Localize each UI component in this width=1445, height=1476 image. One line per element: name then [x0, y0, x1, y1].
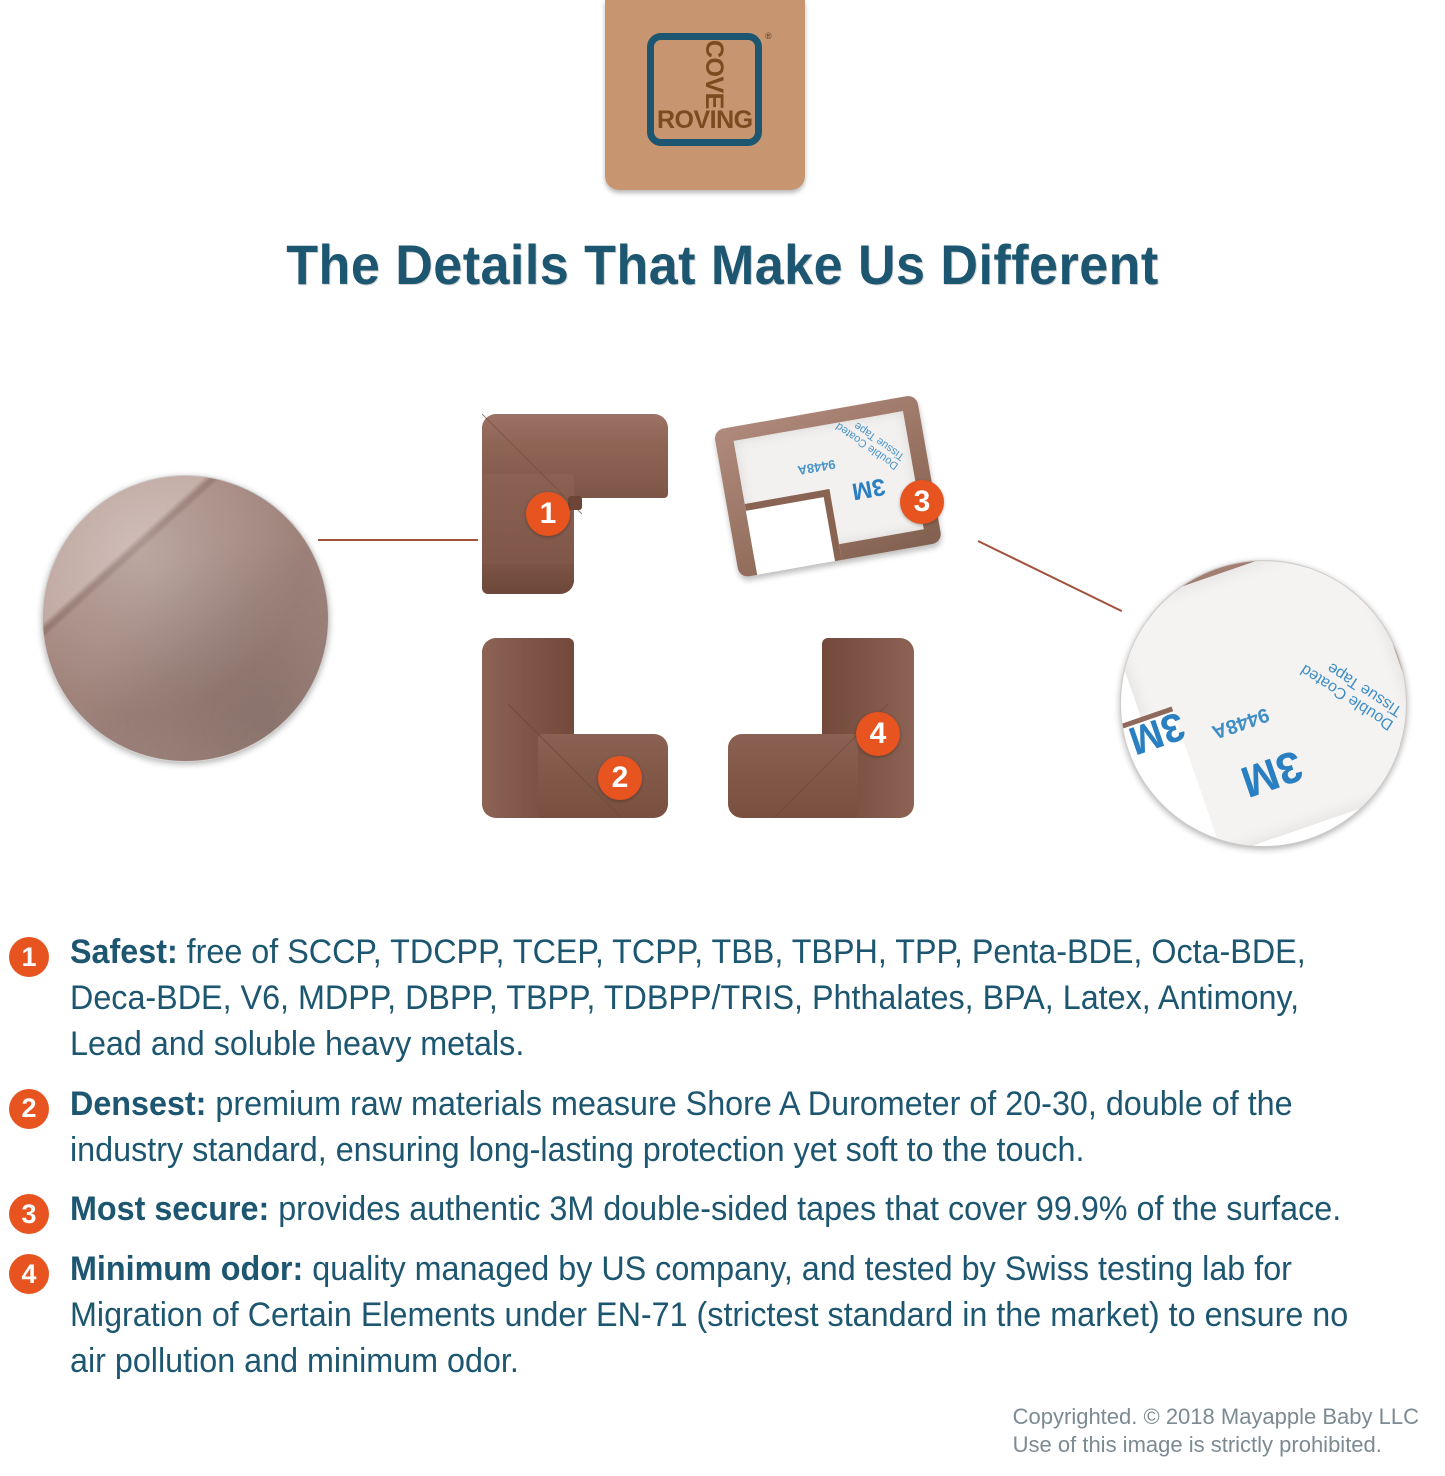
feature-lead-1: Safest: — [70, 933, 178, 971]
brand-logo-badge: ® ROVING COVE — [605, 0, 805, 190]
feature-body-3: provides authentic 3M double-sided tapes… — [269, 1190, 1341, 1228]
copyright-line-1: Copyrighted. © 2018 Mayapple Baby LLC — [1013, 1403, 1419, 1432]
feature-text-4: Minimum odor: quality managed by US comp… — [70, 1247, 1376, 1385]
guard-3-inner-notch — [745, 489, 842, 575]
feature-number-3: 3 — [9, 1194, 49, 1234]
tape-desc-a: Double Coated Tissue Tape — [832, 409, 907, 471]
badge-4: 4 — [856, 712, 900, 756]
corner-guard-1: 1 — [478, 414, 668, 594]
feature-item-3: 3 Most secure: provides authentic 3M dou… — [0, 1187, 1445, 1233]
badge-3: 3 — [900, 480, 944, 524]
feature-text-3: Most secure: provides authentic 3M doubl… — [70, 1187, 1376, 1233]
tape-logo-3m-b: 3M — [850, 473, 887, 502]
feature-body-2: premium raw materials measure Shore A Du… — [70, 1085, 1293, 1169]
logo-text-cove: COVE — [701, 40, 726, 109]
tape-detail-magnifier: 3M 3M 9448A Double Coated Tissue Tape — [1120, 560, 1407, 847]
feature-lead-2: Densest: — [70, 1085, 206, 1123]
feature-text-1: Safest: free of SCCP, TDCPP, TCEP, TCPP,… — [70, 930, 1376, 1068]
registered-trademark-icon: ® — [765, 32, 772, 41]
product-photo-area: 1 2 3M 3M 9448A Double Coated Tissue Tap… — [0, 380, 1445, 900]
guard-1-foot — [482, 564, 574, 594]
logo-square-outline — [647, 33, 762, 146]
feature-lead-3: Most secure: — [70, 1190, 269, 1228]
copyright-footer: Copyrighted. © 2018 Mayapple Baby LLC Us… — [1013, 1403, 1419, 1460]
feature-list: 1 Safest: free of SCCP, TDCPP, TCEP, TCP… — [0, 930, 1445, 1399]
page-title: The Details That Make Us Different — [51, 232, 1395, 297]
feature-number-2: 2 — [9, 1089, 49, 1129]
corner-guard-2: 2 — [478, 638, 668, 818]
feature-item-4: 4 Minimum odor: quality managed by US co… — [0, 1247, 1445, 1385]
connector-line-left — [318, 539, 478, 541]
feature-item-1: 1 Safest: free of SCCP, TDCPP, TCEP, TCP… — [0, 930, 1445, 1068]
badge-2: 2 — [598, 756, 642, 800]
logo-text-roving: ROVING — [657, 108, 753, 133]
feature-text-2: Densest: premium raw materials measure S… — [70, 1082, 1376, 1174]
feature-item-2: 2 Densest: premium raw materials measure… — [0, 1082, 1445, 1174]
corner-guard-3: 3M 3M 9448A Double Coated Tissue Tape 3 — [718, 402, 953, 582]
connector-line-right — [978, 540, 1123, 612]
copyright-line-2: Use of this image is strictly prohibited… — [1013, 1431, 1419, 1460]
corner-guard-4: 4 — [728, 638, 918, 818]
guard-1-inner-corner — [568, 496, 582, 510]
badge-1: 1 — [526, 492, 570, 536]
feature-body-1: free of SCCP, TDCPP, TCEP, TCPP, TBB, TB… — [70, 933, 1306, 1063]
tape-code-a: 9448A — [797, 458, 837, 477]
foam-surface-magnifier — [42, 475, 329, 762]
feature-number-1: 1 — [9, 937, 49, 977]
feature-number-4: 4 — [9, 1254, 49, 1294]
feature-lead-4: Minimum odor: — [70, 1250, 303, 1288]
